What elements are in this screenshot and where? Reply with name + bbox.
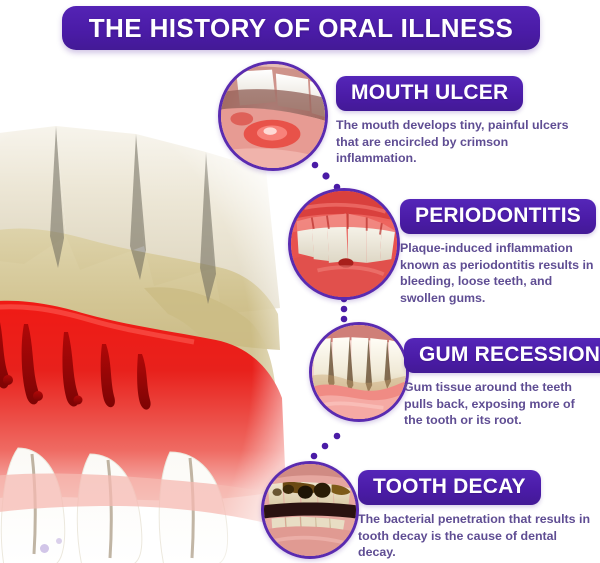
label-periodontitis: PERIODONTITIS xyxy=(400,199,596,234)
label-tooth-decay: TOOTH DECAY xyxy=(358,470,541,505)
label-mouth-ulcer-text: MOUTH ULCER xyxy=(351,81,508,104)
label-gum-recession-text: GUM RECESSION xyxy=(419,343,600,366)
condition-tooth-decay: TOOTH DECAY The bacterial penetration th… xyxy=(358,470,600,561)
page-title: THE HISTORY OF ORAL ILLNESS xyxy=(89,13,513,44)
label-mouth-ulcer: MOUTH ULCER xyxy=(336,76,523,111)
label-gum-recession: GUM RECESSION xyxy=(404,338,600,373)
photo-gum-recession[interactable] xyxy=(309,322,409,422)
photo-periodontitis[interactable] xyxy=(288,188,400,300)
label-tooth-decay-text: TOOTH DECAY xyxy=(373,475,526,498)
desc-periodontitis: Plaque-induced inflammation known as per… xyxy=(400,240,596,306)
dental-illustration xyxy=(0,118,294,563)
page-title-banner: THE HISTORY OF ORAL ILLNESS xyxy=(62,6,540,50)
photo-tooth-decay[interactable] xyxy=(261,461,359,559)
condition-gum-recession: GUM RECESSION Gum tissue around the teet… xyxy=(404,338,600,429)
condition-mouth-ulcer: MOUTH ULCER The mouth develops tiny, pai… xyxy=(336,76,600,167)
photo-mouth-ulcer[interactable] xyxy=(218,61,328,171)
label-periodontitis-text: PERIODONTITIS xyxy=(415,204,581,227)
desc-gum-recession: Gum tissue around the teeth pulls back, … xyxy=(404,379,594,429)
desc-mouth-ulcer: The mouth develops tiny, painful ulcers … xyxy=(336,117,576,167)
decorative-dots xyxy=(40,530,160,560)
desc-tooth-decay: The bacterial penetration that results i… xyxy=(358,511,592,561)
infographic-root: THE HISTORY OF ORAL ILLNESS xyxy=(0,0,600,563)
condition-periodontitis: PERIODONTITIS Plaque-induced inflammatio… xyxy=(400,199,600,306)
